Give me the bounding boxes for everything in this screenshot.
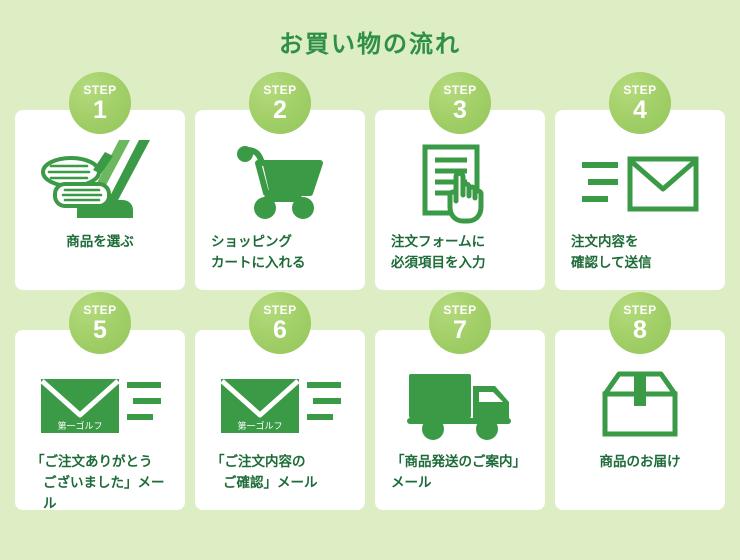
envelope-label: 第一ゴルフ bbox=[57, 420, 102, 432]
badge-word: STEP bbox=[443, 304, 476, 316]
step-icon-area-1 bbox=[15, 136, 185, 232]
steps-row-bottom: STEP 5 第一ゴルフ 「ご注文ありがとう ございました」メール bbox=[15, 330, 725, 510]
step-card-7[interactable]: STEP 7 「商品発送のご案内」 メール bbox=[375, 330, 545, 510]
badge-number: 5 bbox=[93, 318, 107, 343]
delivery-truck-icon bbox=[405, 368, 515, 440]
step-card-8[interactable]: STEP 8 商品のお届け bbox=[555, 330, 725, 510]
step-icon-area-2 bbox=[195, 136, 365, 232]
step-card-1[interactable]: STEP 1 bbox=[15, 110, 185, 290]
incoming-mail-icon: 第一ゴルフ bbox=[217, 371, 343, 437]
caption-line: ご確認」メール bbox=[211, 473, 349, 494]
step-card-6[interactable]: STEP 6 第一ゴルフ 「ご注文内容の ご確認」メール bbox=[195, 330, 365, 510]
step-icon-area-4 bbox=[555, 136, 725, 232]
step-badge-2: STEP 2 bbox=[249, 72, 311, 134]
caption-line: 「商品発送のご案内」 bbox=[391, 452, 529, 473]
caption-line: 注文フォームに bbox=[391, 232, 529, 253]
step-icon-area-3 bbox=[375, 136, 545, 232]
badge-word: STEP bbox=[263, 304, 296, 316]
badge-word: STEP bbox=[623, 84, 656, 96]
shopping-cart-icon bbox=[234, 145, 326, 223]
step-caption-5: 「ご注文ありがとう ございました」メール bbox=[15, 452, 185, 515]
step-card-3[interactable]: STEP 3 注文フォームに 必須項目を入力 bbox=[375, 110, 545, 290]
badge-word: STEP bbox=[83, 304, 116, 316]
step-card-2[interactable]: STEP 2 ショッピング カートに入れる bbox=[195, 110, 365, 290]
step-icon-area-5: 第一ゴルフ bbox=[15, 356, 185, 452]
step-caption-1: 商品を選ぶ bbox=[15, 232, 185, 253]
caption-line: ございました」メール bbox=[31, 473, 169, 515]
caption-line: 「ご注文内容の bbox=[211, 452, 349, 473]
badge-number: 2 bbox=[273, 98, 287, 123]
step-badge-4: STEP 4 bbox=[609, 72, 671, 134]
golf-clubs-icon bbox=[35, 138, 165, 230]
step-badge-5: STEP 5 bbox=[69, 292, 131, 354]
envelope-label: 第一ゴルフ bbox=[237, 420, 282, 432]
badge-word: STEP bbox=[443, 84, 476, 96]
badge-word: STEP bbox=[83, 84, 116, 96]
step-badge-8: STEP 8 bbox=[609, 292, 671, 354]
badge-number: 8 bbox=[633, 318, 647, 343]
package-box-icon bbox=[597, 368, 683, 440]
badge-number: 1 bbox=[93, 98, 107, 123]
caption-line: ショッピング bbox=[211, 232, 349, 253]
badge-number: 7 bbox=[453, 318, 467, 343]
page-title: お買い物の流れ bbox=[0, 24, 740, 59]
badge-number: 3 bbox=[453, 98, 467, 123]
badge-number: 4 bbox=[633, 98, 647, 123]
step-caption-2: ショッピング カートに入れる bbox=[195, 232, 365, 274]
step-badge-1: STEP 1 bbox=[69, 72, 131, 134]
step-icon-area-8 bbox=[555, 356, 725, 452]
incoming-mail-icon: 第一ゴルフ bbox=[37, 371, 163, 437]
caption-line: 必須項目を入力 bbox=[391, 253, 529, 274]
caption-line: メール bbox=[391, 473, 529, 494]
step-icon-area-6: 第一ゴルフ bbox=[195, 356, 365, 452]
steps-grid: STEP 1 bbox=[15, 110, 725, 550]
send-mail-icon bbox=[580, 153, 700, 215]
step-caption-7: 「商品発送のご案内」 メール bbox=[375, 452, 545, 494]
step-card-5[interactable]: STEP 5 第一ゴルフ 「ご注文ありがとう ございました」メール bbox=[15, 330, 185, 510]
order-form-hand-icon bbox=[417, 143, 503, 225]
step-caption-8: 商品のお届け bbox=[555, 452, 725, 473]
caption-line: 「ご注文ありがとう bbox=[31, 452, 169, 473]
badge-word: STEP bbox=[263, 84, 296, 96]
steps-row-top: STEP 1 bbox=[15, 110, 725, 290]
caption-line: カートに入れる bbox=[211, 253, 349, 274]
caption-line: 商品を選ぶ bbox=[31, 232, 169, 253]
caption-line: 確認して送信 bbox=[571, 253, 709, 274]
step-caption-4: 注文内容を 確認して送信 bbox=[555, 232, 725, 274]
step-caption-3: 注文フォームに 必須項目を入力 bbox=[375, 232, 545, 274]
step-icon-area-7 bbox=[375, 356, 545, 452]
badge-word: STEP bbox=[623, 304, 656, 316]
step-caption-6: 「ご注文内容の ご確認」メール bbox=[195, 452, 365, 494]
step-badge-7: STEP 7 bbox=[429, 292, 491, 354]
caption-line: 注文内容を bbox=[571, 232, 709, 253]
step-badge-3: STEP 3 bbox=[429, 72, 491, 134]
step-card-4[interactable]: STEP 4 注文内容を 確認して送信 bbox=[555, 110, 725, 290]
badge-number: 6 bbox=[273, 318, 287, 343]
caption-line: 商品のお届け bbox=[571, 452, 709, 473]
step-badge-6: STEP 6 bbox=[249, 292, 311, 354]
